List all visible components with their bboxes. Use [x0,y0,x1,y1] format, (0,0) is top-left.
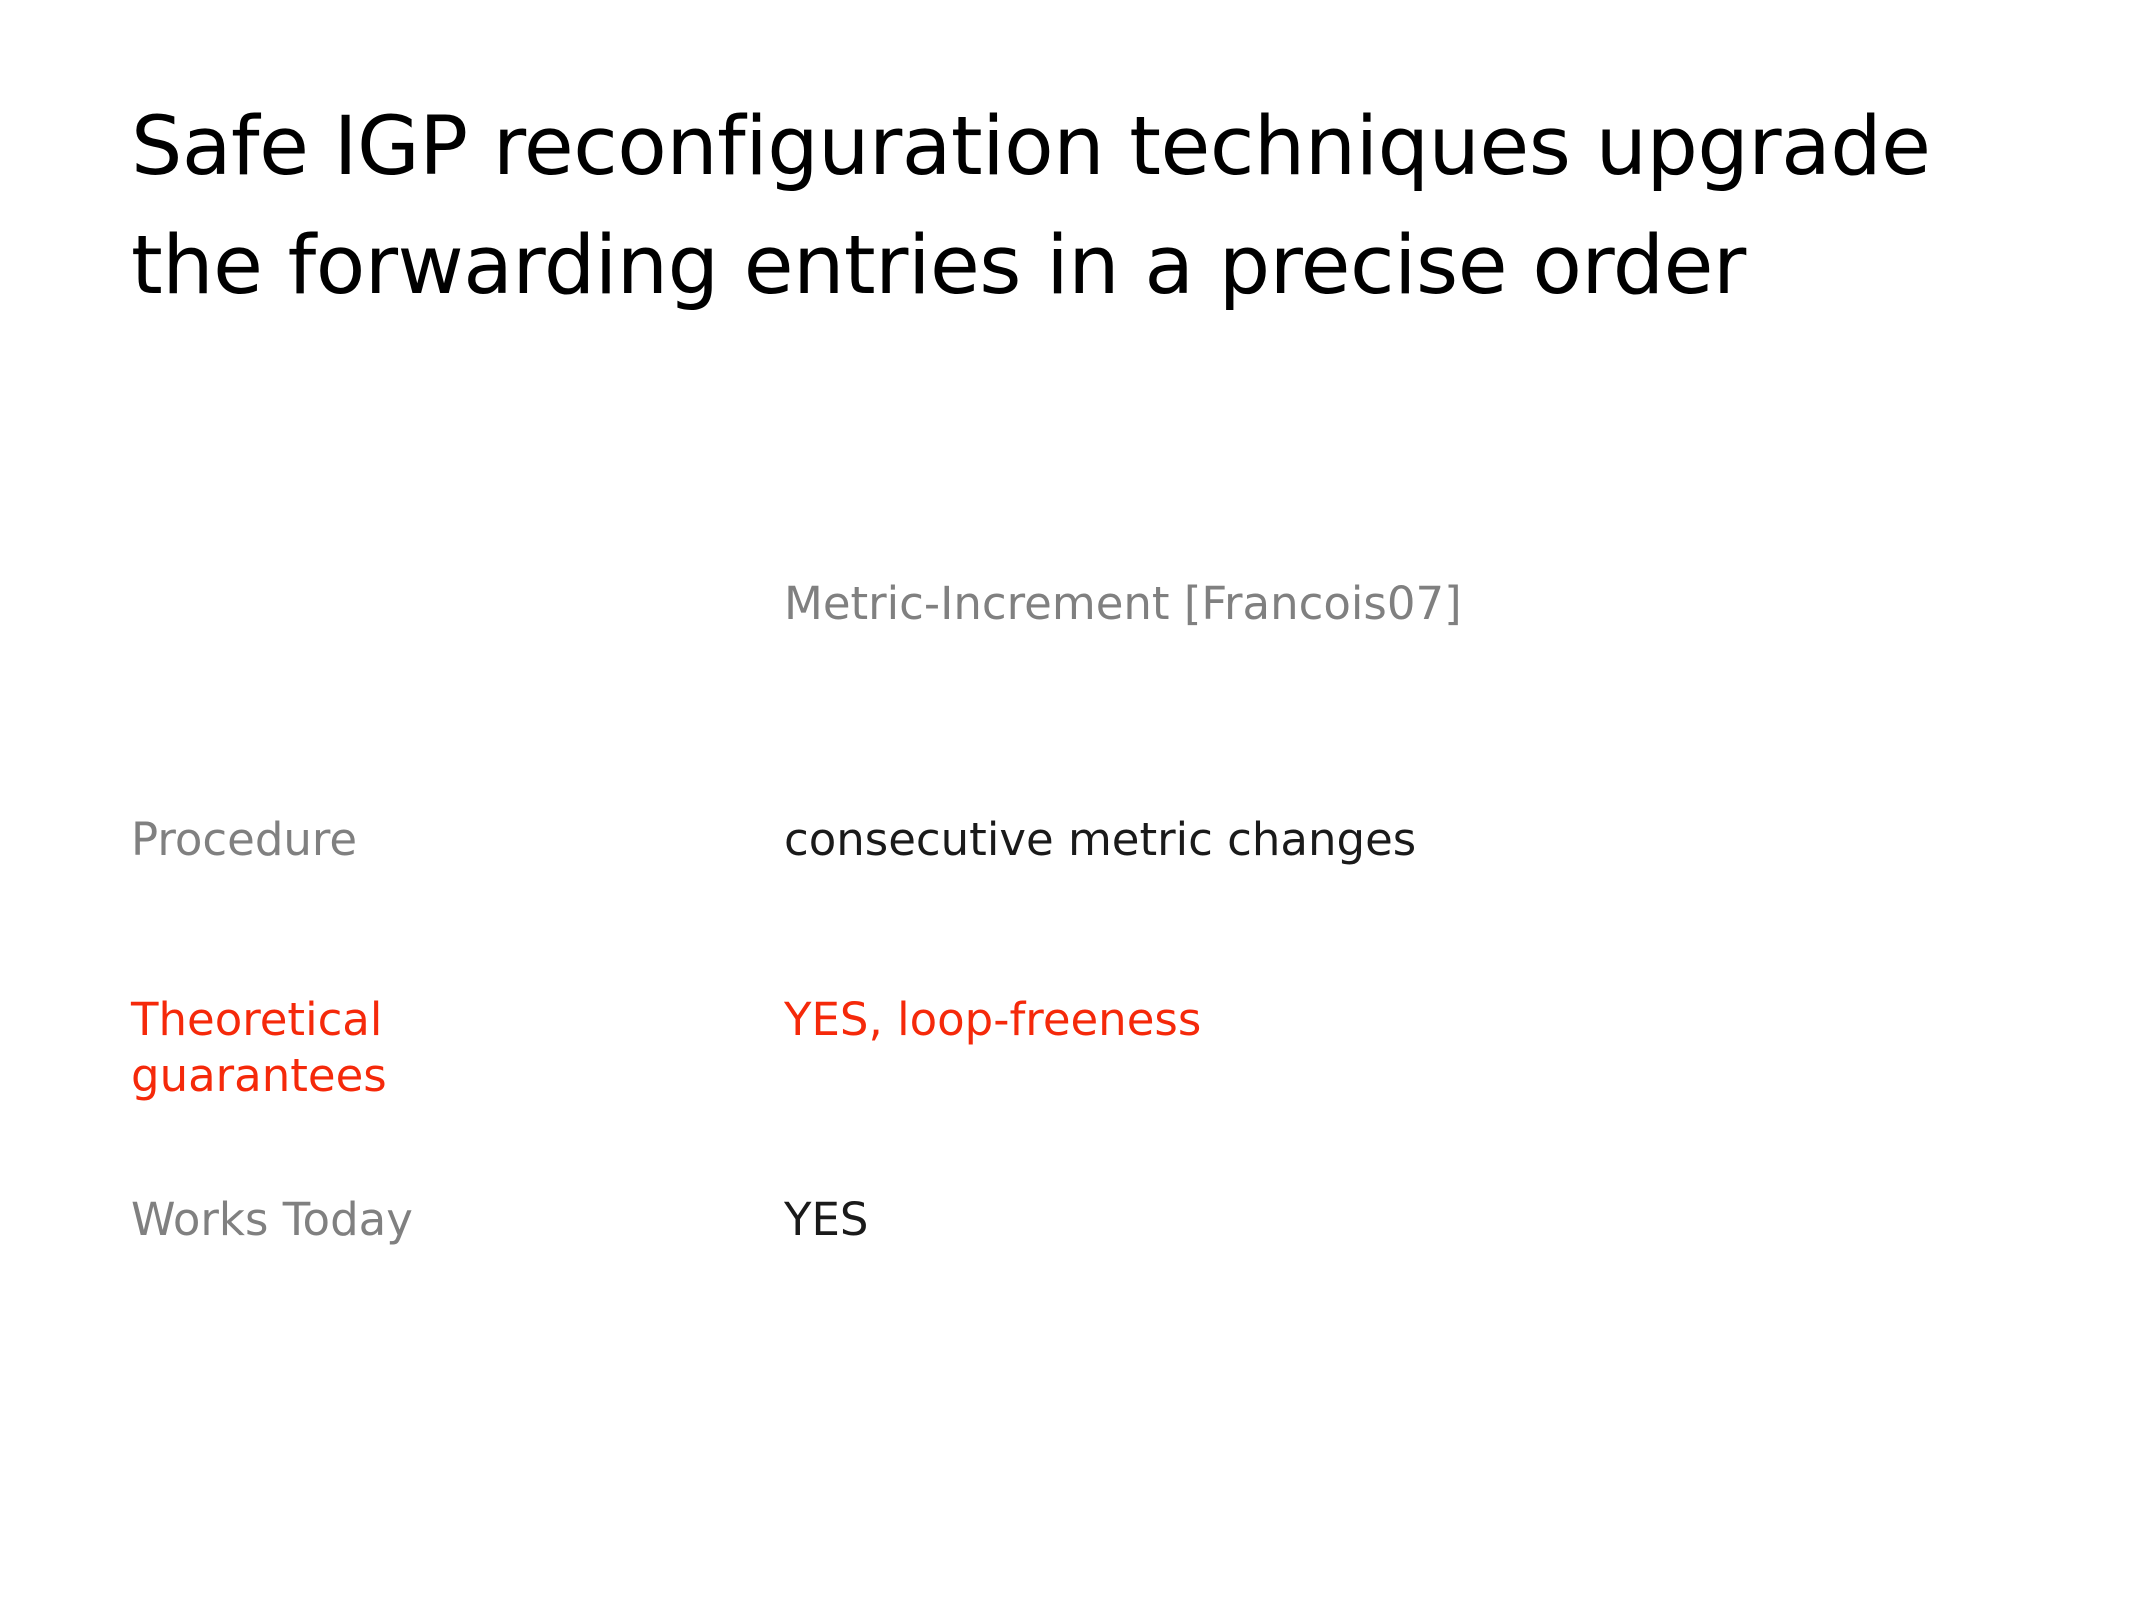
comparison-table: Procedure consecutive metric changes The… [0,0,2134,1600]
row-label-theoretical-guarantees: Theoretical guarantees [131,992,731,1104]
row-label-procedure: Procedure [131,812,731,868]
row-label-works-today: Works Today [131,1192,731,1248]
row-value-procedure: consecutive metric changes [784,812,1984,868]
row-value-theoretical-guarantees: YES, loop-freeness [784,992,1984,1048]
presentation-slide: Safe IGP reconfiguration techniques upgr… [0,0,2134,1600]
row-value-works-today: YES [784,1192,1984,1248]
